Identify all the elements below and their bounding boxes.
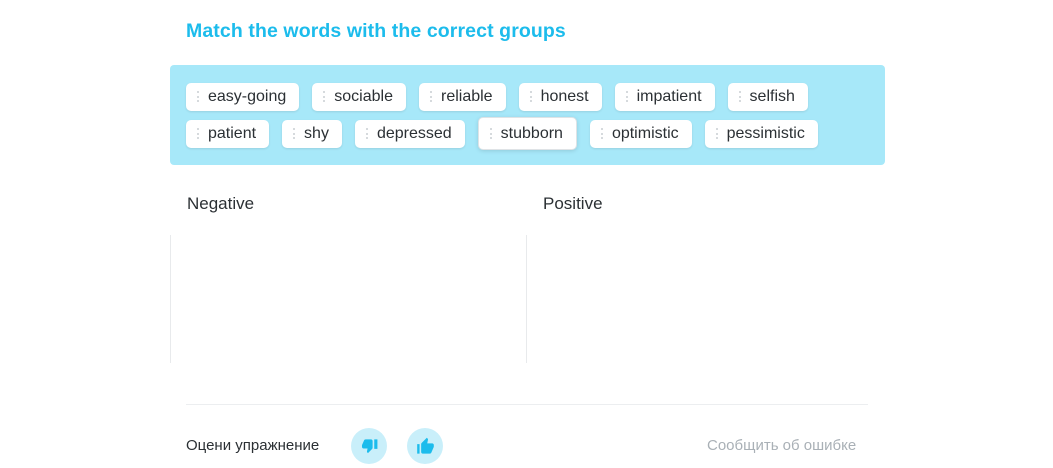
word-chip[interactable]: shy: [282, 120, 342, 148]
drop-column-title: Negative: [187, 194, 254, 214]
footer-divider: [186, 404, 868, 405]
word-bank-row-1: easy-going sociable reliable honest impa…: [186, 80, 885, 113]
word-chip[interactable]: stubborn: [478, 117, 577, 150]
word-chip[interactable]: honest: [519, 83, 602, 111]
drop-area-positive[interactable]: [526, 235, 882, 363]
drop-column-positive: Positive: [526, 190, 882, 365]
drag-handle-icon[interactable]: [194, 126, 202, 142]
word-chip-label: sociable: [334, 89, 393, 105]
word-chip-label: depressed: [377, 126, 452, 142]
word-chip-label: easy-going: [208, 89, 286, 105]
thumbs-up-icon: [416, 437, 435, 456]
word-chip-label: selfish: [750, 89, 795, 105]
drop-column-negative: Negative: [170, 190, 526, 365]
word-chip[interactable]: sociable: [312, 83, 406, 111]
word-chip-label: optimistic: [612, 126, 679, 142]
report-error-link[interactable]: Сообщить об ошибке: [707, 437, 856, 454]
drag-handle-icon[interactable]: [363, 126, 371, 142]
drag-handle-icon[interactable]: [598, 126, 606, 142]
word-chip[interactable]: patient: [186, 120, 269, 148]
rate-exercise-label: Оцени упражнение: [186, 437, 319, 454]
drop-area-negative[interactable]: [170, 235, 526, 363]
word-chip[interactable]: impatient: [615, 83, 715, 111]
drop-column-title: Positive: [543, 194, 603, 214]
drag-handle-icon[interactable]: [290, 126, 298, 142]
drag-handle-icon[interactable]: [427, 89, 435, 105]
word-chip-label: stubborn: [501, 126, 563, 142]
thumbs-up-button[interactable]: [407, 428, 443, 464]
thumbs-down-icon: [360, 437, 379, 456]
drag-handle-icon[interactable]: [487, 126, 495, 142]
thumbs-down-button[interactable]: [351, 428, 387, 464]
drop-columns: Negative Positive: [170, 190, 885, 365]
word-chip-label: shy: [304, 126, 329, 142]
word-chip[interactable]: depressed: [355, 120, 465, 148]
word-chip-label: patient: [208, 126, 256, 142]
drag-handle-icon[interactable]: [320, 89, 328, 105]
word-bank-row-2: patient shy depressed stubborn optimisti…: [186, 117, 885, 150]
drag-handle-icon[interactable]: [623, 89, 631, 105]
word-bank: easy-going sociable reliable honest impa…: [170, 65, 885, 165]
word-chip[interactable]: reliable: [419, 83, 506, 111]
drag-handle-icon[interactable]: [713, 126, 721, 142]
word-chip-label: pessimistic: [727, 126, 805, 142]
word-chip[interactable]: easy-going: [186, 83, 299, 111]
word-chip[interactable]: optimistic: [590, 120, 692, 148]
word-chip-label: reliable: [441, 89, 493, 105]
drag-handle-icon[interactable]: [527, 89, 535, 105]
word-chip-label: honest: [541, 89, 589, 105]
page-title: Match the words with the correct groups: [186, 20, 566, 43]
word-chip[interactable]: selfish: [728, 83, 808, 111]
drag-handle-icon[interactable]: [736, 89, 744, 105]
exercise-container: Match the words with the correct groups …: [0, 0, 1053, 468]
word-chip-label: impatient: [637, 89, 702, 105]
word-chip[interactable]: pessimistic: [705, 120, 818, 148]
drag-handle-icon[interactable]: [194, 89, 202, 105]
